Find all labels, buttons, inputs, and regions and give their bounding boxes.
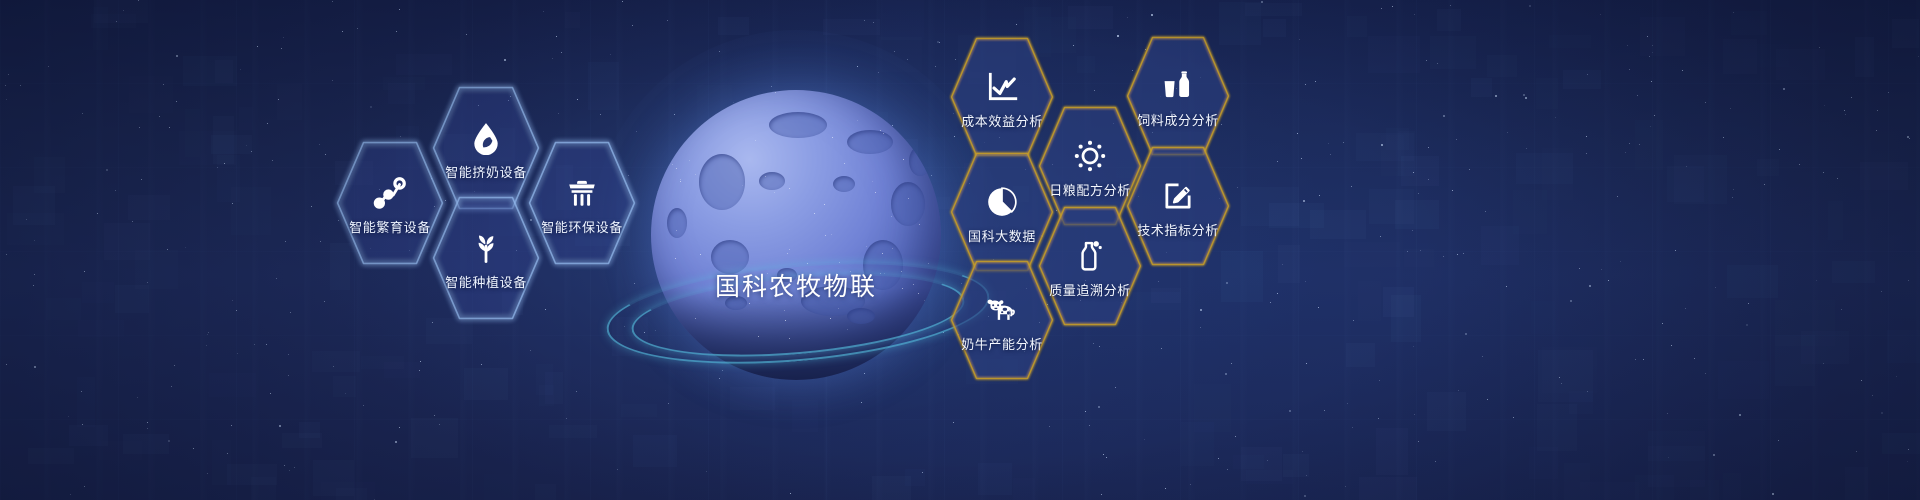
pie-chart-icon	[985, 185, 1019, 219]
hex-node-label: 成本效益分析	[961, 111, 1043, 130]
water-drop-icon	[469, 121, 503, 155]
milk-bottle-glass-icon	[1161, 69, 1195, 103]
hex-node-label: 质量追溯分析	[1049, 280, 1131, 299]
hex-node-label: 奶牛产能分析	[961, 334, 1043, 353]
node-network-icon	[373, 176, 407, 210]
cow-icon	[985, 293, 1019, 327]
hex-node-label: 智能繁育设备	[349, 217, 431, 236]
line-chart-icon	[985, 70, 1019, 104]
hex-node-label: 技术指标分析	[1137, 220, 1219, 239]
hex-node-label: 智能种植设备	[445, 272, 527, 291]
hex-node-label: 国科大数据	[968, 226, 1036, 245]
hex-node-label: 饲料成分分析	[1137, 110, 1219, 129]
hex-node-label: 智能挤奶设备	[445, 162, 527, 181]
hero-banner: 国科农牧物联 智能繁育设备 智能挤奶设备	[0, 0, 1920, 500]
hex-node-blue-1[interactable]: 智能挤奶设备	[432, 86, 540, 210]
milk-bottle-icon	[1073, 239, 1107, 273]
hex-node-gold-6[interactable]: 奶牛产能分析	[950, 260, 1054, 380]
hex-node-label: 日粮配方分析	[1049, 180, 1131, 199]
edit-square-icon	[1161, 179, 1195, 213]
hex-node-blue-3[interactable]: 智能环保设备	[528, 141, 636, 265]
plant-sprout-icon	[469, 231, 503, 265]
sun-icon	[1073, 139, 1107, 173]
hex-node-blue-2[interactable]: 智能种植设备	[432, 196, 540, 320]
trash-bin-icon	[565, 176, 599, 210]
hex-node-blue-0[interactable]: 智能繁育设备	[336, 141, 444, 265]
hex-node-label: 智能环保设备	[541, 217, 623, 236]
